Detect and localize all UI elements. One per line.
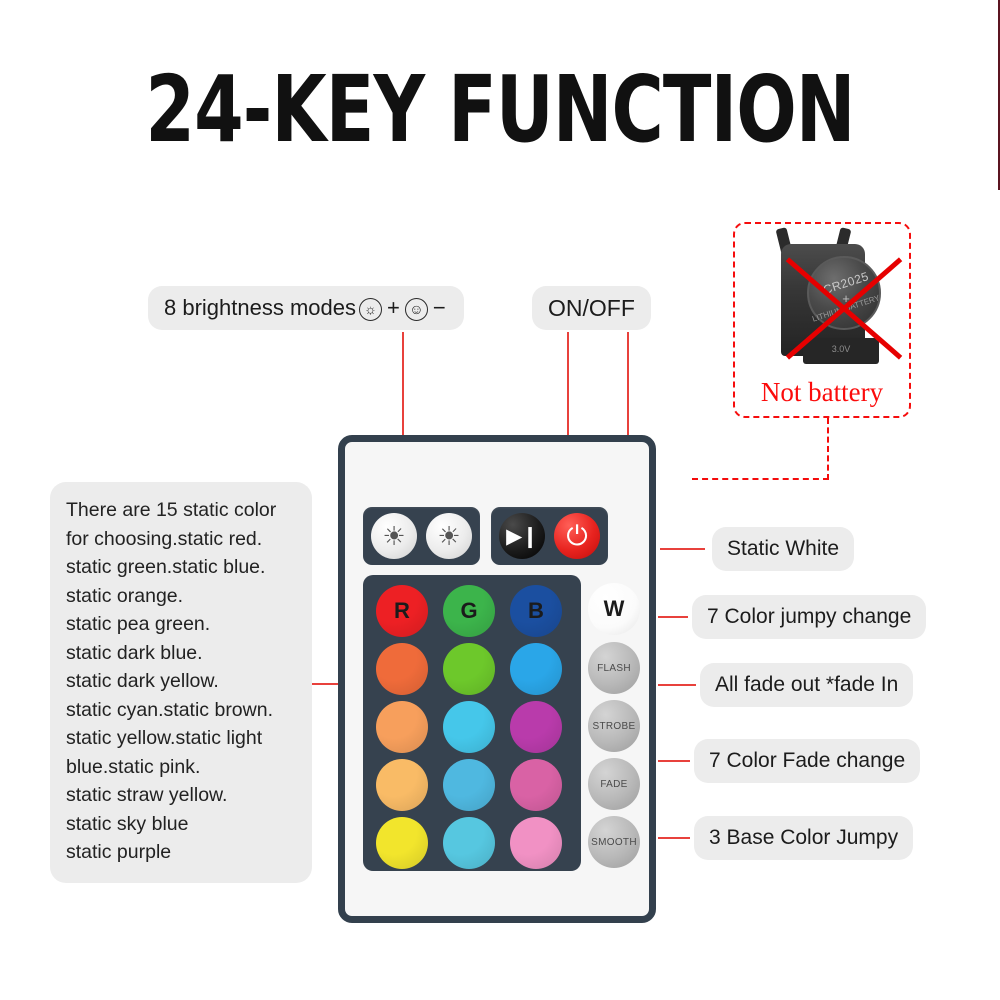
callout-on-off: ON/OFF — [532, 286, 651, 330]
desc-line: static cyan.static brown. — [66, 696, 298, 725]
color-grid: RGB — [372, 583, 566, 871]
desc-line: blue.static pink. — [66, 753, 298, 782]
color-button[interactable] — [510, 759, 562, 811]
desc-line: static dark yellow. — [66, 667, 298, 696]
connector-static-white — [660, 548, 705, 550]
desc-line: static straw yellow. — [66, 781, 298, 810]
color-button[interactable]: R — [376, 585, 428, 637]
color-button[interactable] — [376, 759, 428, 811]
color-button[interactable] — [510, 817, 562, 869]
plus-sign: + — [385, 295, 402, 321]
connector-onoff-power — [627, 332, 629, 440]
power-icon: ⏻ — [566, 523, 587, 550]
sun-bright-icon: ☀ — [382, 523, 405, 549]
connector-all-fade — [658, 684, 696, 686]
desc-line: static purple — [66, 838, 298, 867]
connector-battery-horizontal — [692, 478, 829, 480]
battery-image: CR2025 + LITHIUM BATTERY 3.0V — [763, 232, 881, 368]
not-battery-caption: Not battery — [735, 377, 909, 408]
color-button[interactable] — [443, 643, 495, 695]
desc-line: static pea green. — [66, 610, 298, 639]
color-button[interactable] — [510, 701, 562, 753]
color-button[interactable] — [510, 643, 562, 695]
connector-onoff-play — [567, 332, 569, 440]
white-button[interactable]: W — [588, 583, 640, 635]
color-button[interactable] — [443, 817, 495, 869]
color-button[interactable] — [376, 701, 428, 753]
sun-bright-icon: ☼ — [359, 298, 382, 321]
infographic-page: 24-KEY FUNCTION 8 brightness modes ☼ + ☺… — [0, 0, 1000, 1000]
desc-line: There are 15 static color — [66, 496, 298, 525]
static-colors-description: There are 15 static color for choosing.s… — [50, 482, 312, 883]
brightness-group: ☀ ☀ — [363, 507, 480, 565]
connector-7-color-fade — [658, 760, 690, 762]
minus-sign: − — [431, 295, 448, 321]
desc-line: static green.static blue. — [66, 553, 298, 582]
callout-all-fade: All fade out *fade In — [700, 663, 913, 707]
color-button[interactable]: G — [443, 585, 495, 637]
brightness-down-button[interactable]: ☀ — [426, 513, 472, 559]
desc-line: static sky blue — [66, 810, 298, 839]
color-button[interactable] — [443, 759, 495, 811]
mode-button-fade[interactable]: FADE — [588, 758, 640, 810]
callout-7-color-jumpy: 7 Color jumpy change — [692, 595, 926, 639]
color-button[interactable]: B — [510, 585, 562, 637]
remote-top-row: ☀ ☀ ▶❙ ⏻ — [363, 507, 608, 565]
remote-control: ☀ ☀ ▶❙ ⏻ RGB W F — [338, 435, 656, 923]
connector-7-color-jumpy — [658, 616, 688, 618]
mode-button-flash[interactable]: FLASH — [588, 642, 640, 694]
color-button[interactable] — [376, 643, 428, 695]
color-button[interactable] — [443, 701, 495, 753]
color-button[interactable] — [376, 817, 428, 869]
page-title: 24-KEY FUNCTION — [70, 62, 930, 158]
sun-dim-icon: ☀ — [437, 523, 460, 549]
desc-line: static orange. — [66, 582, 298, 611]
callout-7-color-fade: 7 Color Fade change — [694, 739, 920, 783]
mode-button-strobe[interactable]: STROBE — [588, 700, 640, 752]
mode-button-column: FLASHSTROBEFADESMOOTH — [588, 642, 640, 868]
desc-line: for choosing.static red. — [66, 525, 298, 554]
play-pause-button[interactable]: ▶❙ — [499, 513, 545, 559]
callout-static-white: Static White — [712, 527, 854, 571]
desc-line: static yellow.static light — [66, 724, 298, 753]
sun-dim-icon: ☺ — [405, 298, 428, 321]
power-group: ▶❙ ⏻ — [491, 507, 608, 565]
battery-warning-box: CR2025 + LITHIUM BATTERY 3.0V Not batter… — [733, 222, 911, 418]
brightness-up-button[interactable]: ☀ — [371, 513, 417, 559]
callout-3-base-color: 3 Base Color Jumpy — [694, 816, 913, 860]
callout-brightness-label: 8 brightness modes — [164, 295, 356, 321]
cross-out-icon — [769, 236, 919, 381]
connector-3-base-color — [658, 837, 690, 839]
callout-brightness-modes: 8 brightness modes ☼ + ☺ − — [148, 286, 464, 330]
play-pause-icon: ▶❙ — [506, 524, 538, 549]
power-button[interactable]: ⏻ — [554, 513, 600, 559]
connector-battery-vertical — [827, 418, 829, 480]
color-grid-panel: RGB — [363, 575, 581, 871]
desc-line: static dark blue. — [66, 639, 298, 668]
connector-brightness — [402, 332, 404, 440]
mode-button-smooth[interactable]: SMOOTH — [588, 816, 640, 868]
